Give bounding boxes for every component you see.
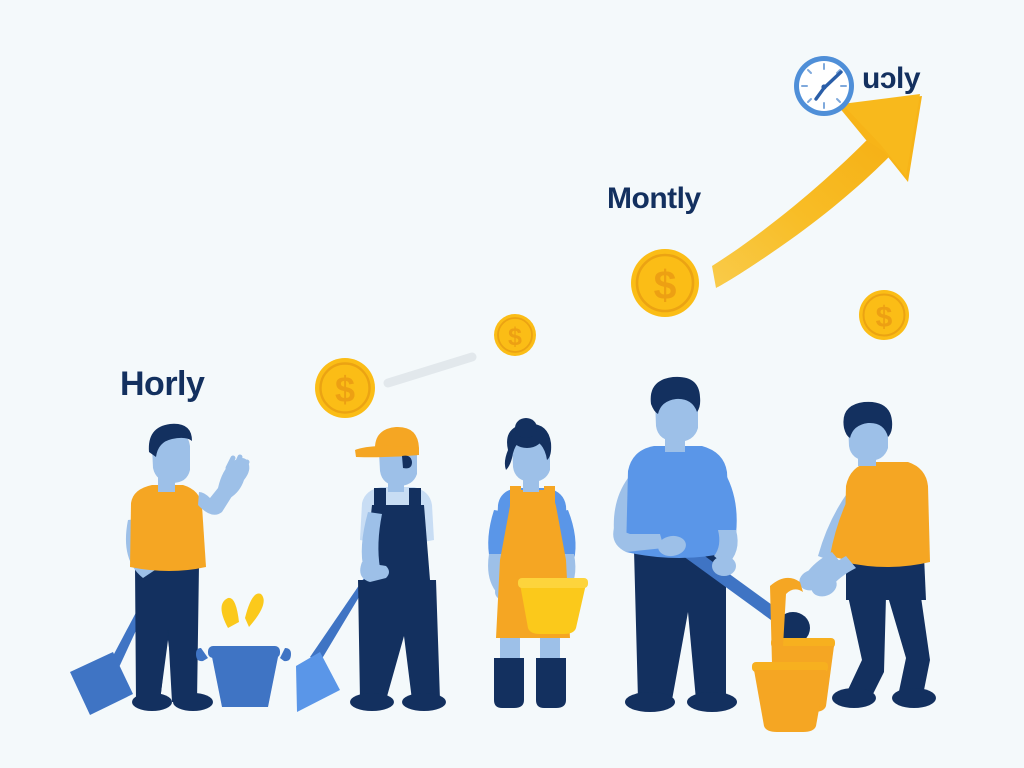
label-yearly: uɔly (862, 62, 920, 96)
svg-text:$: $ (654, 262, 677, 308)
label-hourly: Horly (120, 365, 204, 404)
coin-icon: $ (859, 290, 909, 340)
prop-blue-planter-with-leaves (196, 594, 291, 708)
illustration-canvas: $ $ $ $ (0, 0, 1024, 768)
coin-icon: $ (315, 358, 375, 418)
growth-arrow (712, 94, 922, 288)
svg-text:$: $ (508, 323, 522, 351)
coin-icon: $ (494, 314, 536, 356)
figure-worker-carrying-basin (488, 418, 576, 708)
clock-icon (794, 56, 854, 116)
prop-yellow-basin (518, 578, 588, 634)
coin-trail-group (388, 357, 472, 383)
svg-text:$: $ (335, 369, 355, 410)
figure-worker-sweeping-in-overalls (296, 427, 446, 712)
svg-text:$: $ (876, 301, 893, 334)
label-monthly: Montly (607, 182, 701, 216)
coin-icon: $ (631, 249, 699, 317)
